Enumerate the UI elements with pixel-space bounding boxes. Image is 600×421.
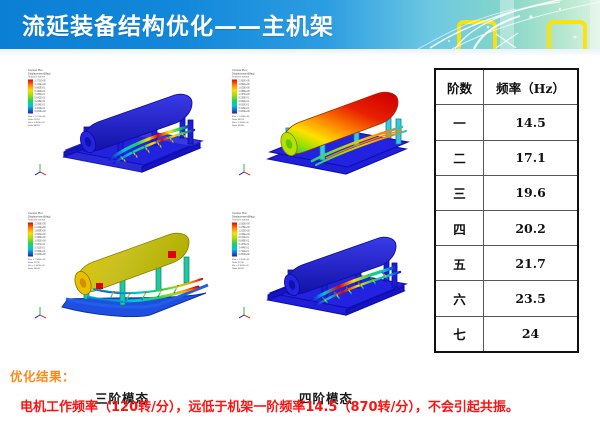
svg-text:1.062E+00: 1.062E+00 <box>35 241 47 243</box>
cell-order: 六 <box>435 281 484 316</box>
table-row: 一 14.5 <box>435 105 578 140</box>
svg-text:1.271E+00: 1.271E+00 <box>35 81 47 83</box>
svg-text:6.944E-01: 6.944E-01 <box>239 101 250 103</box>
svg-text:Node 38590: Node 38590 <box>232 268 245 270</box>
svg-text:Analysis system: Analysis system <box>232 76 249 79</box>
table-row: 四 20.2 <box>435 210 578 245</box>
cell-order: 二 <box>435 140 484 175</box>
svg-text:1.593E+00: 1.593E+00 <box>35 234 47 236</box>
fea-contour-image-3: Contour Plot Displacement(Mag) Analysis … <box>22 207 222 325</box>
svg-text:Min = 0.000E+00: Min = 0.000E+00 <box>28 122 45 124</box>
frequency-table: 阶数 频率（Hz） 一 14.5 二 17.1 三 19.6 四 20.2 五 … <box>434 68 579 353</box>
svg-text:Max = 2.083E+00: Max = 2.083E+00 <box>232 116 250 118</box>
svg-text:2.124E+00: 2.124E+00 <box>35 227 47 229</box>
svg-text:1.400E-01: 1.400E-01 <box>35 108 46 110</box>
table-row: 二 17.1 <box>435 140 578 175</box>
svg-text:3.444E-01: 3.444E-01 <box>239 247 250 249</box>
svg-text:1.033E+00: 1.033E+00 <box>239 234 251 236</box>
cell-frequency: 19.6 <box>484 175 578 210</box>
svg-text:4.228E-01: 4.228E-01 <box>35 101 46 103</box>
cell-frequency: 17.1 <box>484 140 578 175</box>
cell-order: 三 <box>435 175 484 210</box>
mode-shape-panel-3: Contour Plot Displacement(Mag) Analysis … <box>22 207 222 325</box>
svg-text:2.390E+00: 2.390E+00 <box>35 224 47 226</box>
svg-text:Node 38590: Node 38590 <box>28 125 41 127</box>
svg-text:2.315E-01: 2.315E-01 <box>239 108 250 110</box>
cell-order: 七 <box>435 316 484 352</box>
svg-text:1.852E+00: 1.852E+00 <box>239 84 251 86</box>
table-row: 五 21.7 <box>435 246 578 281</box>
table-header-row: 阶数 频率（Hz） <box>435 69 578 105</box>
fea-contour-image-2: Contour Plot Displacement(Mag) Analysis … <box>226 64 426 182</box>
svg-text:8.469E-01: 8.469E-01 <box>35 91 46 93</box>
svg-text:1.130E+00: 1.130E+00 <box>35 84 47 86</box>
svg-text:9.259E-01: 9.259E-01 <box>239 98 250 100</box>
svg-text:1.722E-01: 1.722E-01 <box>239 251 250 253</box>
svg-text:0.000E+00: 0.000E+00 <box>35 111 47 113</box>
svg-text:Max = 2.390E+00: Max = 2.390E+00 <box>28 259 46 261</box>
optimization-result-text: 电机工作频率（120转/分），远低于机架一阶频率14.5（870转/分），不会引… <box>20 396 595 415</box>
cell-order: 一 <box>435 105 484 140</box>
mode-shape-panel-1: Contour Plot Displacement(Mag) Analysis … <box>22 64 222 182</box>
svg-text:Contour Plot: Contour Plot <box>28 68 43 72</box>
cell-frequency: 24 <box>484 316 578 352</box>
svg-text:Min = 0.000E+00: Min = 0.000E+00 <box>232 122 249 124</box>
slide-header: 流延装备结构优化——主机架 <box>0 0 600 49</box>
cell-frequency: 14.5 <box>484 105 578 140</box>
header-underbar <box>0 49 600 56</box>
mode-shape-panel-2: Contour Plot Displacement(Mag) Analysis … <box>226 64 426 182</box>
svg-text:Analysis system: Analysis system <box>28 76 45 79</box>
svg-text:Max = 1.550E+00: Max = 1.550E+00 <box>232 259 250 261</box>
table-header-order: 阶数 <box>435 69 484 105</box>
svg-text:1.550E+00: 1.550E+00 <box>239 224 251 226</box>
cell-frequency: 21.7 <box>484 246 578 281</box>
svg-text:Node 38590: Node 38590 <box>232 125 245 127</box>
fea-contour-image-1: Contour Plot Displacement(Mag) Analysis … <box>22 64 222 182</box>
table-row: 三 19.6 <box>435 175 578 210</box>
svg-text:Node 11706: Node 11706 <box>232 262 245 264</box>
fea-contour-image-4: Contour Plot Displacement(Mag) Analysis … <box>226 207 426 325</box>
svg-text:2.814E-01: 2.814E-01 <box>35 104 46 106</box>
cell-order: 五 <box>435 246 484 281</box>
svg-text:1.620E+00: 1.620E+00 <box>239 87 251 89</box>
svg-text:Node 11706: Node 11706 <box>28 262 41 264</box>
svg-text:0.000E+00: 0.000E+00 <box>35 254 47 256</box>
svg-text:Node 38913: Node 38913 <box>232 119 245 121</box>
svg-text:Contour Plot: Contour Plot <box>232 68 247 72</box>
cell-order: 四 <box>435 210 484 245</box>
page-title: 流延装备结构优化——主机架 <box>22 7 334 41</box>
svg-text:5.311E-01: 5.311E-01 <box>35 247 46 249</box>
svg-text:Min = 0.000E+00: Min = 0.000E+00 <box>232 265 249 267</box>
frequency-table-container: 阶数 频率（Hz） 一 14.5 二 17.1 三 19.6 四 20.2 五 … <box>434 68 579 353</box>
mode-shape-panel-grid: Contour Plot Displacement(Mag) Analysis … <box>14 62 422 357</box>
svg-text:Min = 0.000E+00: Min = 0.000E+00 <box>28 265 45 267</box>
svg-text:4.630E-01: 4.630E-01 <box>239 104 250 106</box>
svg-text:Contour Plot: Contour Plot <box>232 211 247 215</box>
svg-text:Max = 1.271E+00: Max = 1.271E+00 <box>28 116 46 118</box>
svg-text:Analysis system: Analysis system <box>232 219 249 222</box>
svg-text:5.167E-01: 5.167E-01 <box>239 244 250 246</box>
svg-text:0.000E+00: 0.000E+00 <box>239 254 251 256</box>
svg-text:2.656E-01: 2.656E-01 <box>35 251 46 253</box>
cell-frequency: 20.2 <box>484 210 578 245</box>
svg-text:1.389E+00: 1.389E+00 <box>239 91 251 93</box>
svg-text:1.859E+00: 1.859E+00 <box>35 230 47 232</box>
svg-text:1.205E+00: 1.205E+00 <box>239 230 251 232</box>
table-header-frequency: 频率（Hz） <box>484 69 578 105</box>
table-row: 六 23.5 <box>435 281 578 316</box>
svg-text:7.967E-01: 7.967E-01 <box>35 244 46 246</box>
svg-text:Contour Plot: Contour Plot <box>28 211 43 215</box>
svg-text:8.611E-01: 8.611E-01 <box>239 237 250 239</box>
mode-shape-panel-4: Contour Plot Displacement(Mag) Analysis … <box>226 207 426 325</box>
svg-text:1.328E+00: 1.328E+00 <box>35 237 47 239</box>
table-row: 七 24 <box>435 316 578 352</box>
svg-text:Node 38590: Node 38590 <box>28 268 41 270</box>
svg-text:6.889E-01: 6.889E-01 <box>239 241 250 243</box>
svg-text:1.378E+00: 1.378E+00 <box>239 227 251 229</box>
cell-frequency: 23.5 <box>484 281 578 316</box>
svg-text:0.000E+00: 0.000E+00 <box>239 111 251 113</box>
svg-text:5.642E-01: 5.642E-01 <box>35 98 46 100</box>
svg-text:Analysis system: Analysis system <box>28 219 45 222</box>
svg-text:9.883E-01: 9.883E-01 <box>35 87 46 89</box>
optimization-result-label: 优化结果： <box>10 366 75 385</box>
svg-text:Node 10702: Node 10702 <box>28 119 41 121</box>
svg-text:2.083E+00: 2.083E+00 <box>239 81 251 83</box>
svg-text:1.157E+00: 1.157E+00 <box>239 94 251 96</box>
svg-text:7.056E-01: 7.056E-01 <box>35 94 46 96</box>
